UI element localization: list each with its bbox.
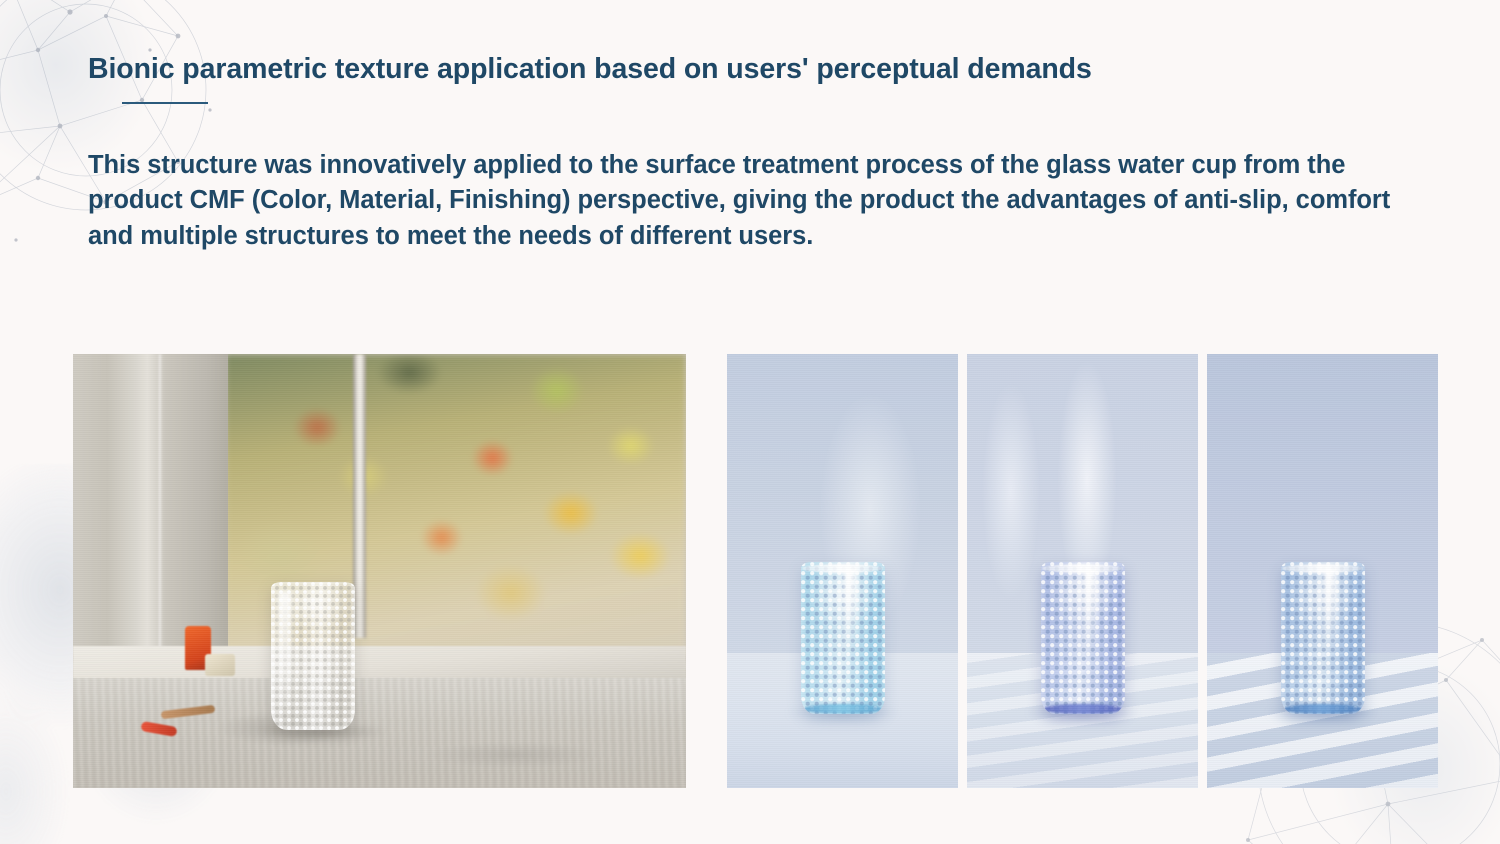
page-title: Bionic parametric texture application ba… — [88, 52, 1418, 87]
slide-canvas: Bionic parametric texture application ba… — [0, 0, 1500, 844]
title-underline-rule — [122, 102, 208, 104]
cup-photo-blue — [1207, 354, 1438, 788]
cup-base-highlight — [1043, 704, 1122, 714]
cup-photo-cyan — [727, 354, 958, 788]
studio-scene-blue — [1207, 354, 1438, 788]
studio-scene-periwinkle — [967, 354, 1198, 788]
main-windowsill-photo — [73, 354, 686, 788]
clear-textured-glass-cup — [271, 582, 355, 730]
image-gallery — [73, 354, 1438, 788]
cup-rim-highlight — [1042, 564, 1123, 573]
cup-rim-highlight — [1282, 564, 1363, 573]
cup-rim-highlight — [802, 564, 883, 573]
cup-photo-periwinkle — [967, 354, 1198, 788]
periwinkle-textured-glass-cup — [1041, 562, 1125, 714]
cup-base-highlight — [803, 704, 882, 714]
body-paragraph: This structure was innovatively applied … — [88, 148, 1433, 254]
cyan-textured-glass-cup — [801, 562, 885, 714]
studio-scene-cyan — [727, 354, 958, 788]
cup-base-highlight — [1283, 704, 1362, 714]
window-scene — [73, 354, 686, 788]
slide-header: Bionic parametric texture application ba… — [88, 52, 1418, 87]
cream-object — [205, 654, 235, 676]
blue-textured-glass-cup — [1281, 562, 1365, 714]
